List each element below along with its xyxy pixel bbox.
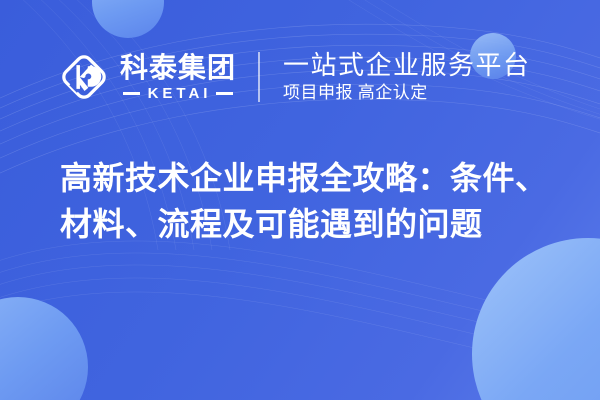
headline-line-2: 材料、流程及可能遇到的问题 <box>60 201 560 247</box>
brand-name-cn: 科泰集团 <box>120 53 236 83</box>
tagline: 一站式企业服务平台 项目申报 高企认定 <box>283 50 531 104</box>
headline-line-1: 高新技术企业申报全攻略：条件、 <box>60 155 560 201</box>
decorative-circle-bottom-left <box>0 297 88 400</box>
ketai-diamond-kd-logo-icon <box>57 50 111 104</box>
dash-right-icon <box>216 92 233 95</box>
brand-wordmark: 科泰集团 KETAI <box>120 53 236 102</box>
dash-left-icon <box>123 92 140 95</box>
tagline-primary: 一站式企业服务平台 <box>283 50 531 80</box>
headline: 高新技术企业申报全攻略：条件、 材料、流程及可能遇到的问题 <box>60 155 560 247</box>
tagline-secondary: 项目申报 高企认定 <box>283 82 531 104</box>
brand-name-en: KETAI <box>140 86 217 102</box>
brand-logo: 科泰集团 KETAI <box>57 50 236 104</box>
brand-name-en-row: KETAI <box>120 86 236 102</box>
header-divider <box>258 52 260 102</box>
decorative-circle-top-left <box>92 0 164 38</box>
promo-banner: 科泰集团 KETAI 一站式企业服务平台 项目申报 高企认定 高新技术企业申报全… <box>0 0 600 400</box>
banner-header: 科泰集团 KETAI 一站式企业服务平台 项目申报 高企认定 <box>0 44 600 110</box>
decorative-circle-bottom-right <box>472 238 600 400</box>
